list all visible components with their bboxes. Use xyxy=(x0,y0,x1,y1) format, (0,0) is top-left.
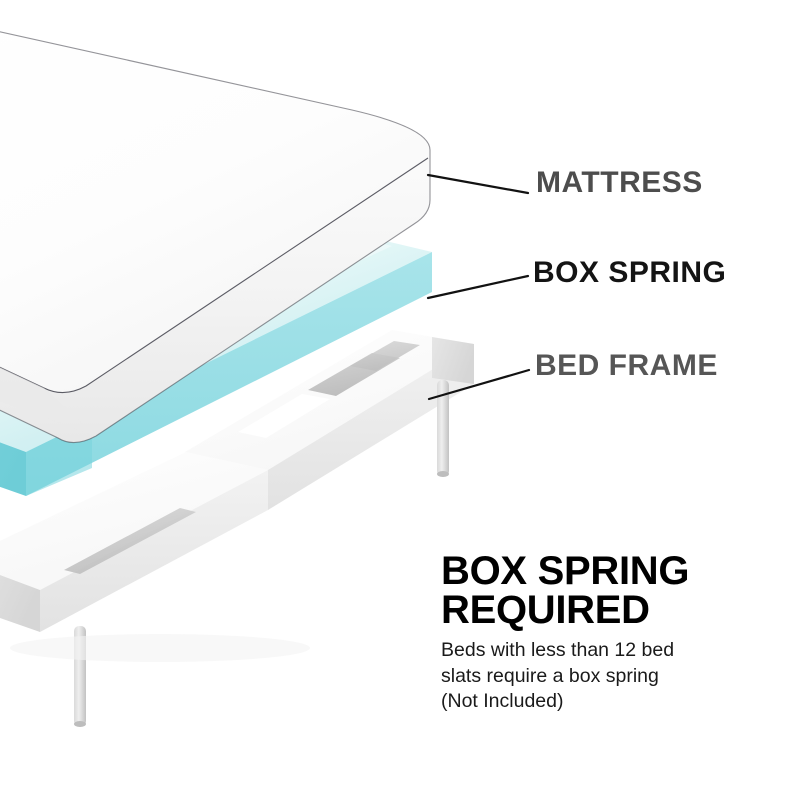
leader-line-mattress xyxy=(428,175,528,193)
callout-body-line1: Beds with less than 12 bed xyxy=(441,638,781,664)
callout-body-line3: (Not Included) xyxy=(441,689,781,715)
leader-line-box-spring xyxy=(428,276,528,298)
bed-frame-corner-right xyxy=(432,337,474,384)
callout-headline-line2: REQUIRED xyxy=(441,591,781,630)
callout-block: BOX SPRING REQUIRED Beds with less than … xyxy=(441,552,781,715)
bed-frame-shadow xyxy=(10,634,310,662)
label-bed-frame: BED FRAME xyxy=(535,349,718,383)
label-box-spring: BOX SPRING xyxy=(533,256,726,290)
callout-body: Beds with less than 12 bed slats require… xyxy=(441,638,781,716)
infographic-canvas: MATTRESS BOX SPRING BED FRAME BOX SPRING… xyxy=(0,0,800,800)
callout-body-line2: slats require a box spring xyxy=(441,664,781,690)
bed-frame-leg-right-foot xyxy=(437,471,449,477)
label-mattress: MATTRESS xyxy=(536,166,703,200)
callout-headline-line1: BOX SPRING xyxy=(441,552,781,591)
bed-frame-leg-left-foot xyxy=(74,721,86,727)
